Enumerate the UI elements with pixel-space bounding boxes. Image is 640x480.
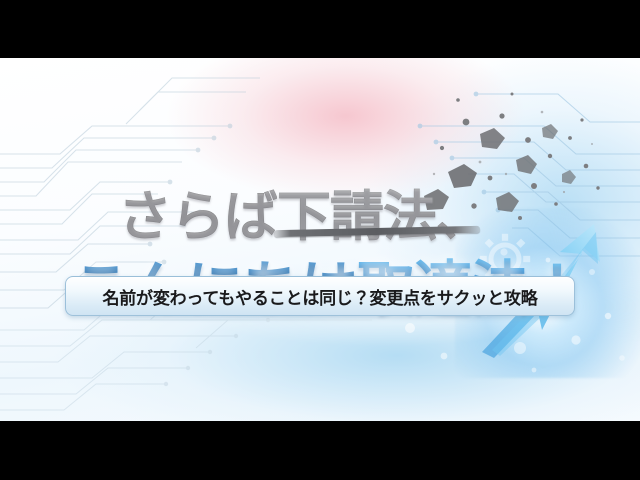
letterbox-bottom: [0, 421, 640, 480]
headline-line-1-struck-term: 下請法: [277, 187, 436, 247]
video-thumbnail-stage: さらば下請法、 こんにちは取適法！ 名前が変わってもやることは同じ？変更点をサク…: [0, 0, 640, 480]
letterbox-top: [0, 0, 640, 58]
artwork-canvas: さらば下請法、 こんにちは取適法！ 名前が変わってもやることは同じ？変更点をサク…: [0, 58, 640, 421]
headline-line-1-trailing: 、: [436, 187, 489, 247]
headline-line-1-prefix: さらば: [118, 187, 277, 247]
subtitle-text: 名前が変わってもやることは同じ？変更点をサクッと攻略: [102, 284, 537, 309]
headline-group: さらば下請法、 こんにちは取適法！ 名前が変わってもやることは同じ？変更点をサク…: [0, 58, 640, 421]
subtitle-ribbon: 名前が変わってもやることは同じ？変更点をサクッと攻略: [65, 276, 575, 316]
